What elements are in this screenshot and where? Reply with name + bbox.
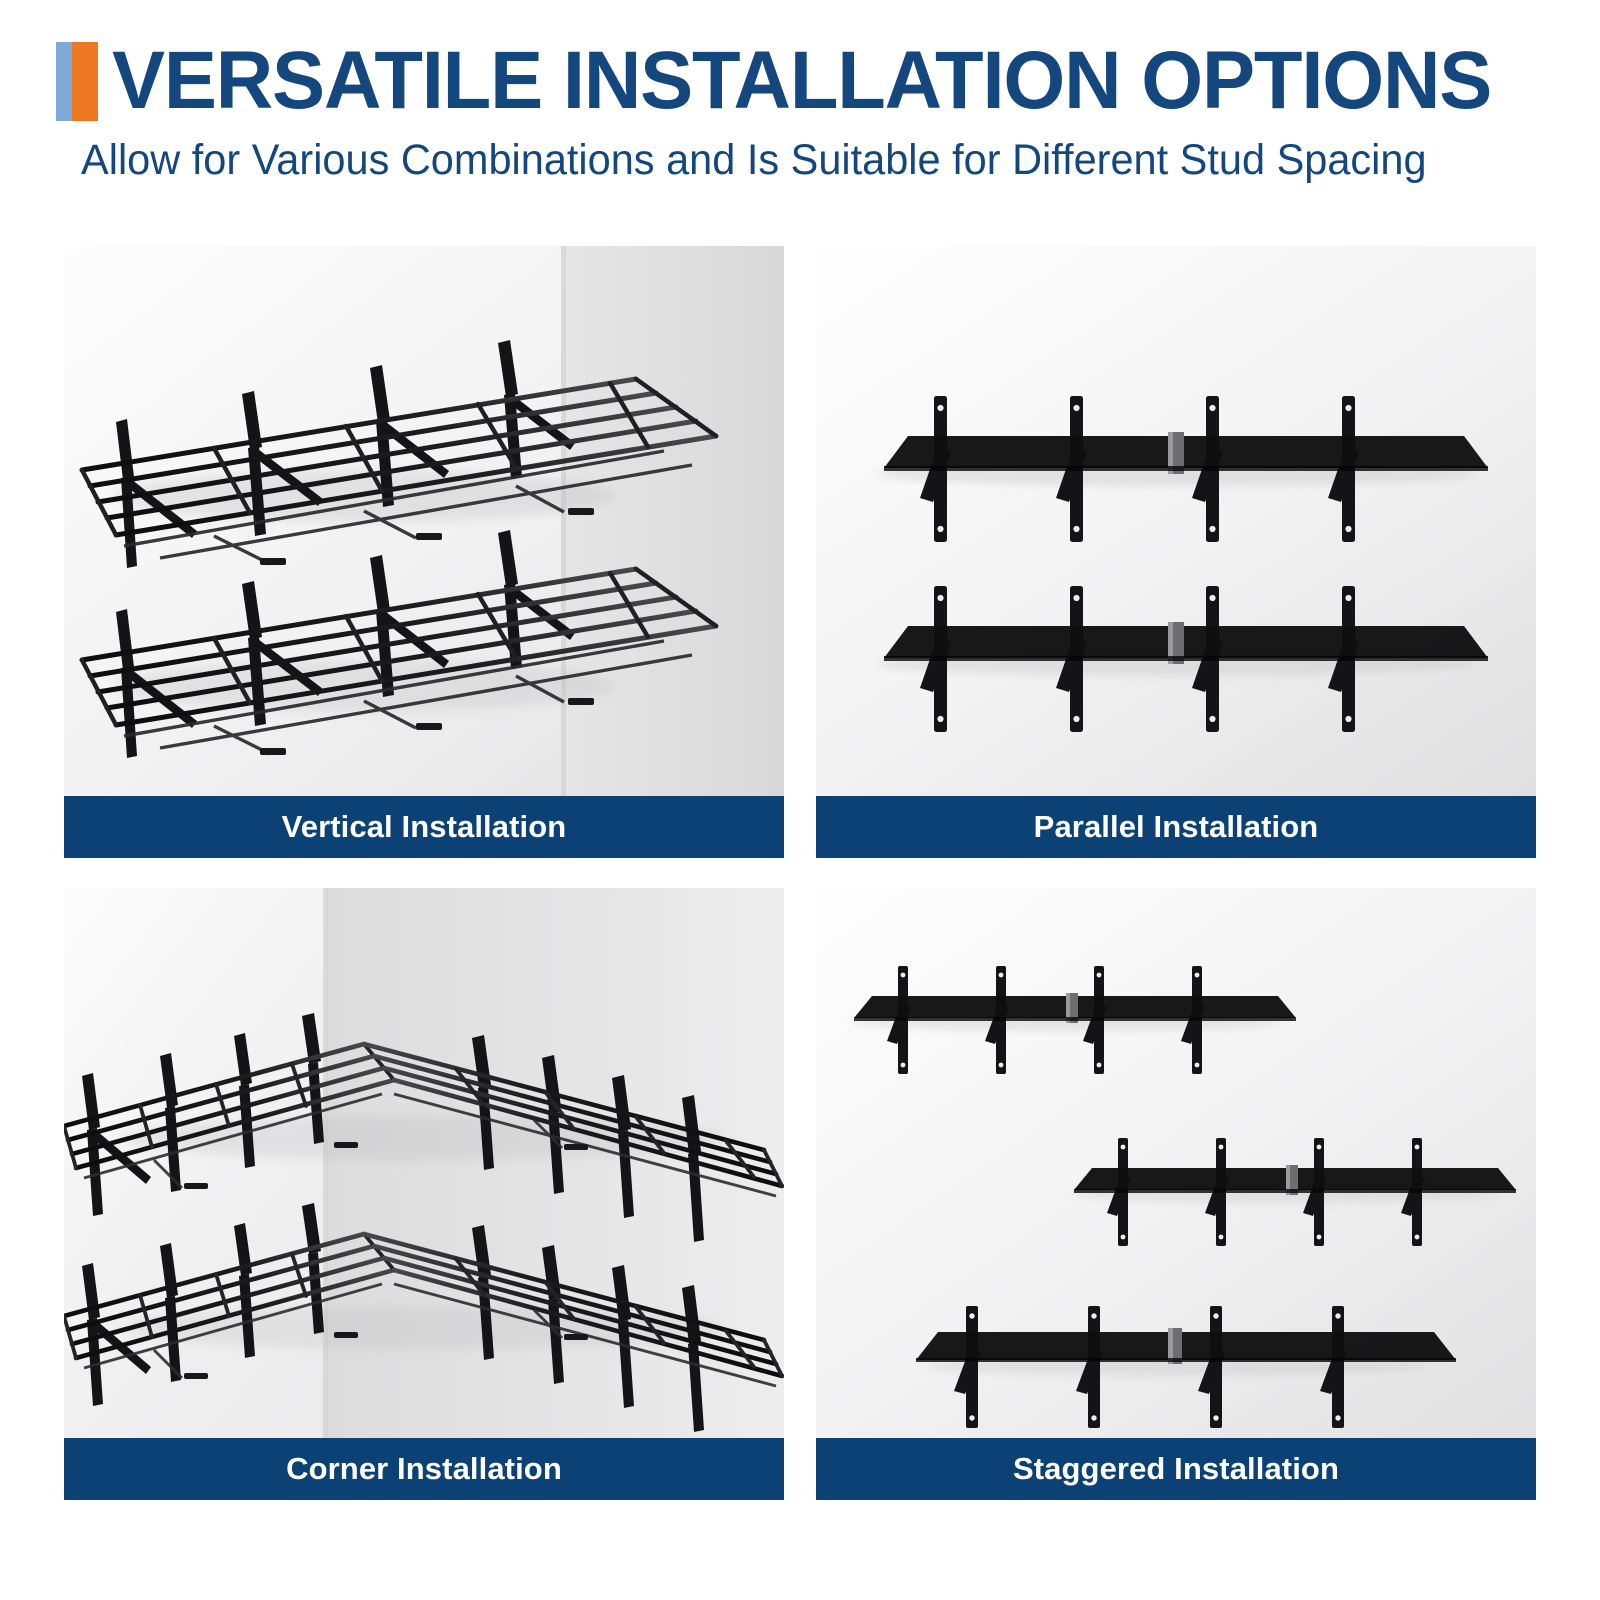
- page-title: VERSATILE INSTALLATION OPTIONS: [112, 42, 1491, 121]
- accent-stripe-orange: [72, 42, 98, 121]
- panel-grid: Vertical Installation: [64, 246, 1536, 1500]
- panel-corner-caption: Corner Installation: [64, 1438, 784, 1500]
- panel-staggered[interactable]: Staggered Installation: [816, 888, 1536, 1500]
- accent-stripe-blue: [56, 42, 72, 121]
- panel-vertical-image: [64, 246, 784, 796]
- panel-vertical-caption: Vertical Installation: [64, 796, 784, 858]
- header: VERSATILE INSTALLATION OPTIONS Allow for…: [0, 0, 1600, 184]
- accent-bar-icon: [56, 42, 98, 121]
- panel-vertical[interactable]: Vertical Installation: [64, 246, 784, 858]
- infographic-page: VERSATILE INSTALLATION OPTIONS Allow for…: [0, 0, 1600, 1600]
- panel-corner[interactable]: Corner Installation: [64, 888, 784, 1500]
- panel-staggered-caption: Staggered Installation: [816, 1438, 1536, 1500]
- panel-corner-image: [64, 888, 784, 1438]
- panel-staggered-image: [816, 888, 1536, 1438]
- panel-parallel-caption: Parallel Installation: [816, 796, 1536, 858]
- panel-parallel-image: [816, 246, 1536, 796]
- title-row: VERSATILE INSTALLATION OPTIONS: [0, 42, 1600, 121]
- page-subtitle: Allow for Various Combinations and Is Su…: [0, 137, 1544, 184]
- panel-parallel[interactable]: Parallel Installation: [816, 246, 1536, 858]
